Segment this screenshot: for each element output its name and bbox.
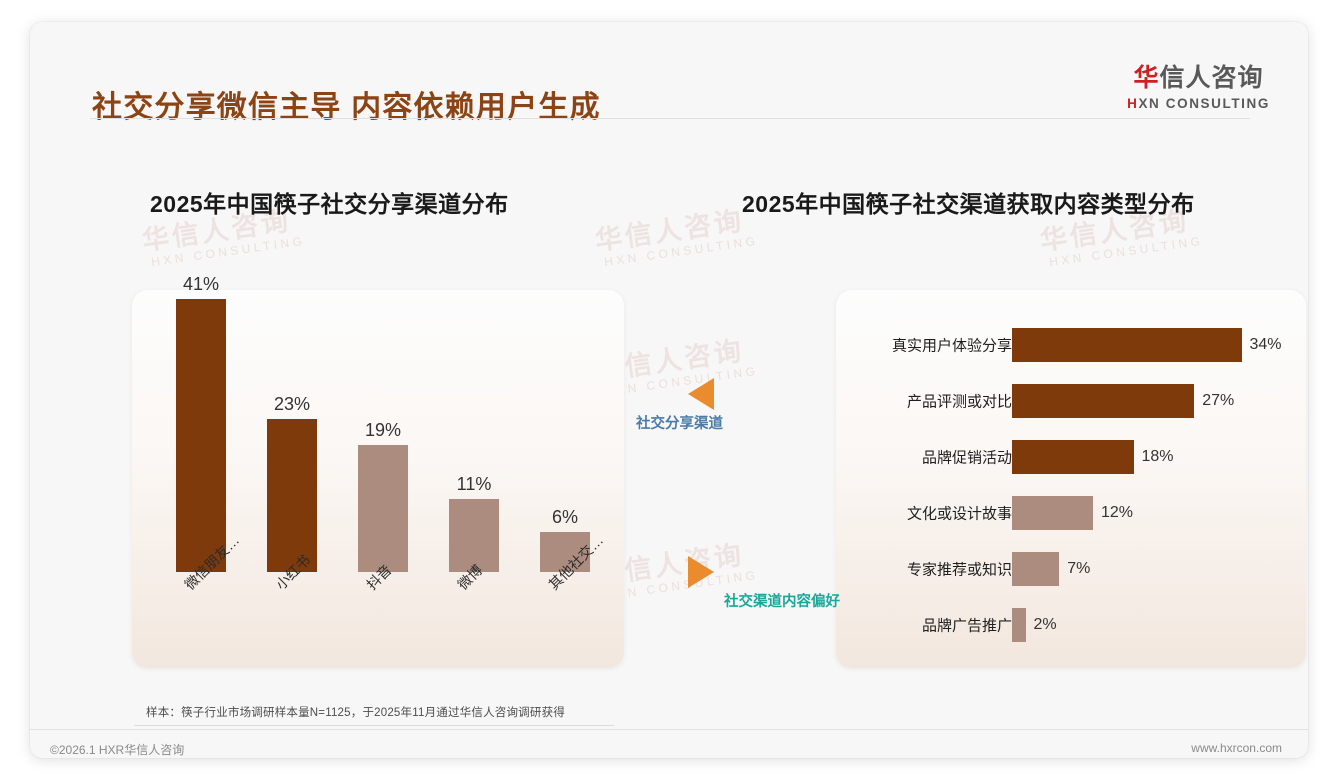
bar-row[interactable]: 品牌促销活动18% (836, 440, 1306, 474)
header-divider (90, 118, 1250, 119)
logo-english: HXN CONSULTING (1127, 96, 1270, 111)
brand-logo: 华信人咨询 HXN CONSULTING (1127, 58, 1270, 111)
column-chart: 41%微信朋友…23%小红书19%抖音11%微博6%其他社交… (132, 290, 624, 668)
column-item[interactable]: 11%微博 (449, 499, 499, 572)
right-chart-title: 2025年中国筷子社交渠道获取内容类型分布 (742, 185, 1195, 219)
watermark-cn: 华信人咨询 (592, 197, 757, 258)
logo-chinese-rest: 信人咨询 (1160, 64, 1264, 92)
column-item[interactable]: 6%其他社交… (540, 532, 590, 572)
bar-value-label: 2% (1034, 616, 1057, 634)
column-value-label: 11% (457, 474, 492, 495)
bar-row[interactable]: 产品评测或对比27% (836, 384, 1306, 418)
bar-row[interactable]: 专家推荐或知识7% (836, 552, 1306, 586)
watermark-en: HXN CONSULTING (1048, 234, 1204, 269)
logo-chinese-accent: 华 (1134, 64, 1160, 92)
footer-website[interactable]: www.hxrcon.com (1191, 741, 1282, 755)
bar-value-label: 18% (1142, 448, 1174, 466)
column-value-label: 41% (183, 274, 219, 295)
annotation-share-channel-label: 社交分享渠道 (636, 412, 723, 433)
bar-fill[interactable] (1012, 384, 1194, 418)
watermark: 华信人咨询 HXN CONSULTING (592, 197, 759, 270)
triangle-right-icon (688, 556, 714, 588)
logo-english-rest: XN CONSULTING (1138, 96, 1270, 111)
bar-row[interactable]: 文化或设计故事12% (836, 496, 1306, 530)
page-title: 社交分享微信主导 内容依赖用户生成 (92, 82, 601, 126)
logo-chinese: 华信人咨询 (1127, 58, 1270, 94)
column-item[interactable]: 19%抖音 (358, 445, 408, 572)
bar-fill[interactable] (1012, 328, 1242, 362)
bar-category-label: 真实用户体验分享 (892, 335, 1012, 356)
column-value-label: 6% (552, 507, 578, 528)
annotation-content-preference-label: 社交渠道内容偏好 (724, 590, 840, 611)
column-bar[interactable] (358, 445, 408, 572)
bar-value-label: 34% (1250, 336, 1282, 354)
column-bar[interactable] (267, 419, 317, 572)
bar-fill[interactable] (1012, 552, 1059, 586)
horizontal-bar-chart: 真实用户体验分享34%产品评测或对比27%品牌促销活动18%文化或设计故事12%… (836, 290, 1306, 668)
column-value-label: 19% (365, 420, 401, 441)
watermark-en: HXN CONSULTING (603, 234, 759, 269)
bar-category-label: 产品评测或对比 (907, 391, 1012, 412)
footer-divider (30, 729, 1308, 730)
source-note: 样本：筷子行业市场调研样本量N=1125，于2025年11月通过华信人咨询调研获… (146, 704, 565, 720)
column-value-label: 23% (274, 394, 310, 415)
bar-category-label: 品牌广告推广 (922, 615, 1012, 636)
watermark-en: HXN CONSULTING (603, 364, 759, 399)
bar-fill[interactable] (1012, 608, 1026, 642)
column-item[interactable]: 23%小红书 (267, 419, 317, 572)
column-item[interactable]: 41%微信朋友… (176, 299, 226, 572)
bar-fill[interactable] (1012, 496, 1093, 530)
bar-category-label: 品牌促销活动 (922, 447, 1012, 468)
bar-fill[interactable] (1012, 440, 1134, 474)
left-chart-title: 2025年中国筷子社交分享渠道分布 (150, 185, 509, 219)
logo-english-accent: H (1127, 96, 1138, 111)
footer-copyright: ©2026.1 HXR华信人咨询 (50, 741, 184, 758)
column-bar[interactable] (176, 299, 226, 572)
bar-row[interactable]: 真实用户体验分享34% (836, 328, 1306, 362)
triangle-left-icon (688, 378, 714, 410)
bar-category-label: 文化或设计故事 (907, 503, 1012, 524)
bar-value-label: 27% (1202, 392, 1234, 410)
bar-row[interactable]: 品牌广告推广2% (836, 608, 1306, 642)
bar-value-label: 7% (1067, 560, 1090, 578)
source-divider (134, 725, 614, 726)
slide-header: 社交分享微信主导 内容依赖用户生成 华信人咨询 HXN CONSULTING (30, 22, 1308, 118)
watermark-en: HXN CONSULTING (150, 234, 306, 269)
bar-category-label: 专家推荐或知识 (907, 559, 1012, 580)
bar-value-label: 12% (1101, 504, 1133, 522)
slide-canvas: 华信人咨询 HXN CONSULTING 华信人咨询 HXN CONSULTIN… (30, 22, 1308, 758)
